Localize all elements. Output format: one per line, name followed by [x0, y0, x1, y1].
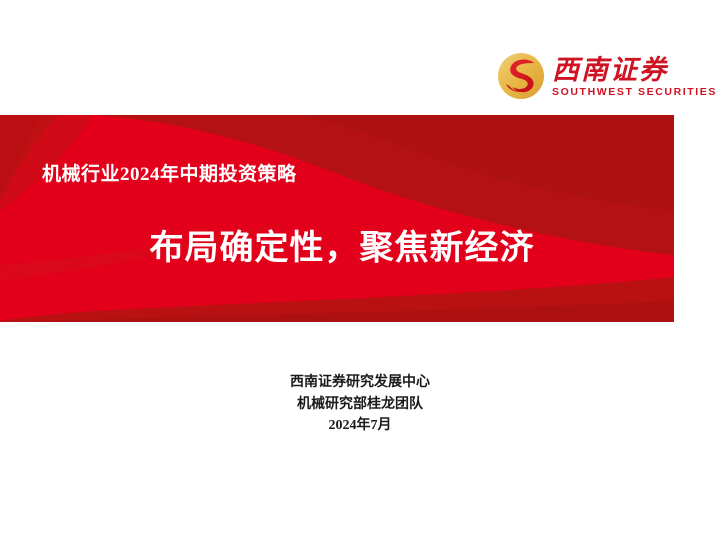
banner-subtitle: 机械行业2024年中期投资策略: [42, 159, 297, 186]
footer-organization: 西南证券研究发展中心: [0, 372, 720, 394]
company-logo: 西南证券 SOUTHWEST SECURITIES: [496, 46, 686, 106]
cover-slide: 西南证券 SOUTHWEST SECURITIES 机械行业2024年中期投资策…: [0, 0, 720, 540]
banner-main-title: 布局确定性，聚焦新经济: [0, 220, 674, 269]
southwest-securities-emblem-icon: [496, 51, 546, 101]
title-banner: 机械行业2024年中期投资策略 布局确定性，聚焦新经济: [0, 115, 674, 322]
logo-english-name: SOUTHWEST SECURITIES: [552, 86, 717, 98]
logo-chinese-name: 西南证券: [552, 56, 717, 84]
banner-text-group: 机械行业2024年中期投资策略 布局确定性，聚焦新经济: [0, 115, 674, 322]
footer-team: 机械研究部桂龙团队: [0, 394, 720, 416]
footer-date: 2024年7月: [0, 415, 720, 437]
footer-block: 西南证券研究发展中心 机械研究部桂龙团队 2024年7月: [0, 372, 720, 437]
logo-wordmark: 西南证券 SOUTHWEST SECURITIES: [552, 56, 717, 97]
